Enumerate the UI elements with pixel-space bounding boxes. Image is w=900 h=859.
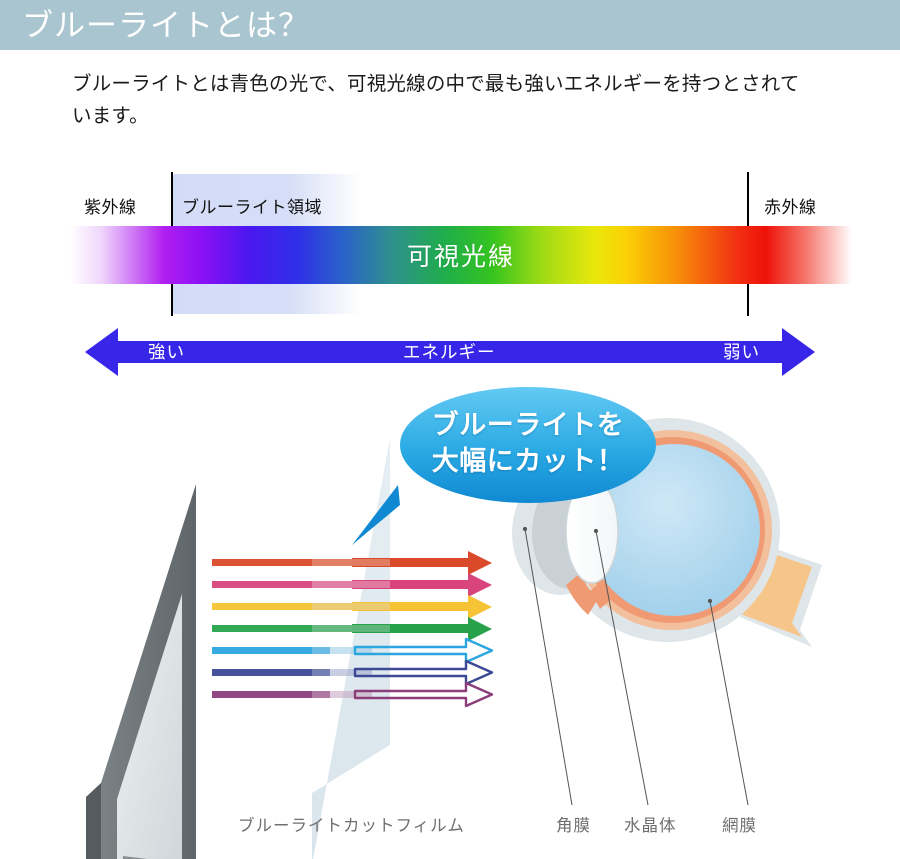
illustration-area: ブルーライトを 大幅にカット！ (0, 385, 900, 859)
spectrum-diagram: 紫外線 ブルーライト領域 赤外線 可視光線 (0, 168, 900, 318)
label-energy-weak: 弱い (723, 339, 760, 364)
caption-film: ブルーライトカットフィルム (238, 812, 465, 836)
energy-axis: 強い エネルギー 弱い (0, 322, 900, 382)
spectrum-gradient-bar: 可視光線 (70, 226, 852, 284)
page-title: ブルーライトとは？ (22, 6, 310, 46)
caption-lens: 水晶体 (624, 812, 677, 836)
infographic-root: ブルーライトとは？ ブルーライトとは青色の光で、可視光線の中で最も強いエネルギー… (0, 0, 900, 859)
ray-yellow (212, 595, 492, 619)
device-screen-illustration (86, 484, 196, 859)
illustration-svg (0, 385, 900, 859)
label-ultraviolet: 紫外線 (84, 193, 137, 218)
label-blue-light-region: ブルーライト領域 (182, 193, 322, 218)
caption-cornea: 角膜 (556, 812, 591, 836)
label-energy-strong: 強い (148, 339, 185, 364)
ray-pink (212, 573, 492, 597)
ray-red (212, 551, 492, 575)
label-visible-light: 可視光線 (70, 226, 852, 284)
label-infrared: 赤外線 (764, 193, 817, 218)
caption-retina: 網膜 (722, 812, 757, 836)
intro-paragraph: ブルーライトとは青色の光で、可視光線の中で最も強いエネルギーを持つとされています… (72, 68, 802, 132)
label-energy: エネルギー (403, 339, 496, 364)
ray-green (212, 617, 492, 641)
